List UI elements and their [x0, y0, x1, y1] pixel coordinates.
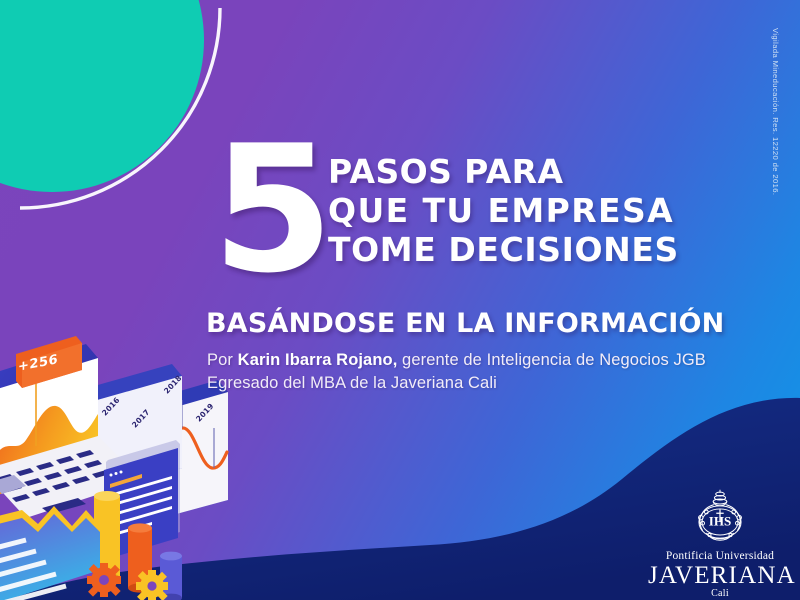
logo-line-1: Pontificia Universidad [648, 550, 792, 562]
headline-block: 5 PASOS PARA QUE TU EMPRESA TOME DECISIO… [198, 140, 718, 340]
gear-orange [87, 563, 121, 597]
legal-note-text: Vigilada Mineducación. Res. 12220 de 201… [771, 28, 780, 195]
headline-line-1: PASOS PARA [326, 152, 718, 191]
poster-canvas: +256 2016 2017 2018 2019 5 PASOS PARA QU… [0, 0, 800, 600]
legal-note-wrapper: Vigilada Mineducación. Res. 12220 de 201… [780, 28, 794, 228]
ihs-crest-icon: IHS [689, 486, 751, 548]
headline-lines: PASOS PARA QUE TU EMPRESA TOME DECISIONE… [326, 152, 718, 269]
byline-line-2: Egresado del MBA de la Javeriana Cali [207, 372, 727, 395]
headline-subline: BASÁNDOSE EN LA INFORMACIÓN [206, 308, 706, 339]
headline-line-3: TOME DECISIONES [326, 230, 718, 269]
headline-line-2: QUE TU EMPRESA [326, 191, 718, 230]
javeriana-logo: IHS Pontificia Universidad JAVERIANA Cal… [648, 486, 792, 599]
headline-number: 5 [212, 136, 329, 286]
floor-area-chart [0, 506, 100, 600]
teal-circle-shape [0, 0, 204, 192]
byline-author: Karin Ibarra Rojano, [238, 351, 398, 369]
logo-line-3: Cali [648, 588, 792, 599]
gear-yellow [136, 570, 168, 600]
byline-line-1: Por Karin Ibarra Rojano, gerente de Inte… [207, 349, 727, 372]
byline-block: Por Karin Ibarra Rojano, gerente de Inte… [207, 349, 727, 395]
byline-role: gerente de Inteligencia de Negocios JGB [397, 351, 706, 369]
logo-line-2: JAVERIANA [648, 562, 792, 589]
byline-prefix: Por [207, 351, 238, 369]
